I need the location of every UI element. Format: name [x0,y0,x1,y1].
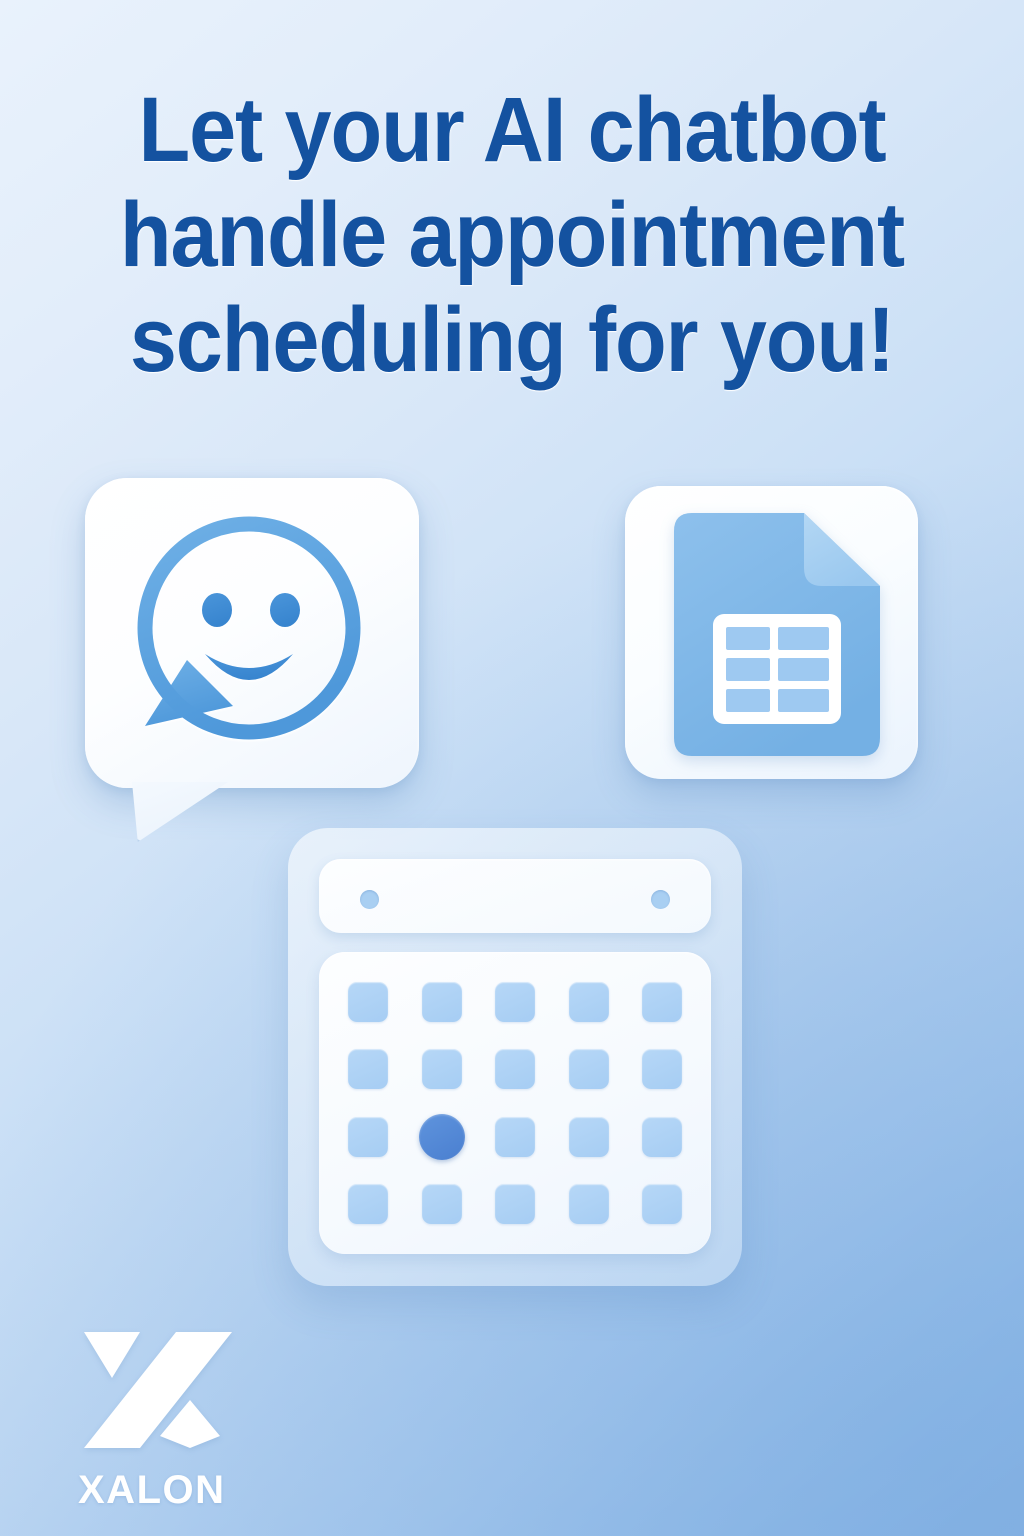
calendar-day-cell[interactable] [348,1049,388,1089]
calendar-day-cell[interactable] [348,1117,388,1157]
calendar-day-cell[interactable] [569,1117,609,1157]
headline-line-3: scheduling for you! [89,288,935,393]
calendar-day-cell[interactable] [495,1184,535,1224]
chat-bubble-smiley-icon [125,510,373,758]
xalon-x-mark-icon [78,1326,238,1454]
brand-wordmark: XALON [78,1470,318,1510]
calendar-day-cell-selected[interactable] [419,1114,465,1160]
calendar-day-cell[interactable] [495,1117,535,1157]
headline-line-2: handle appointment [89,183,935,288]
calendar-day-cell[interactable] [348,1184,388,1224]
calendar-day-cell[interactable] [495,982,535,1022]
calendar-day-cell[interactable] [422,1049,462,1089]
calendar-day-cell[interactable] [642,1117,682,1157]
spreadsheet-document-card [625,486,918,779]
calendar-ring-left-icon [360,890,379,909]
calendar-day-cell[interactable] [642,1049,682,1089]
calendar-day-cell[interactable] [348,982,388,1022]
spreadsheet-document-icon [674,513,880,756]
calendar-day-grid [348,982,682,1224]
calendar-body [319,952,711,1254]
page-title: Let your AI chatbot handle appointment s… [0,78,1024,393]
poster-canvas: Let your AI chatbot handle appointment s… [0,0,1024,1536]
calendar-icon [288,828,742,1286]
chat-bubble-card [85,478,419,788]
calendar-day-cell[interactable] [422,1184,462,1224]
headline-line-1: Let your AI chatbot [89,78,935,183]
calendar-day-cell[interactable] [642,1184,682,1224]
calendar-header-bar [319,859,711,933]
calendar-day-cell[interactable] [642,982,682,1022]
calendar-day-cell[interactable] [569,982,609,1022]
calendar-day-cell[interactable] [569,1049,609,1089]
calendar-day-cell[interactable] [569,1184,609,1224]
calendar-day-cell[interactable] [495,1049,535,1089]
calendar-day-cell[interactable] [422,982,462,1022]
chat-card-tail [132,782,228,842]
calendar-ring-right-icon [651,890,670,909]
brand-logo[interactable]: XALON [78,1326,318,1516]
